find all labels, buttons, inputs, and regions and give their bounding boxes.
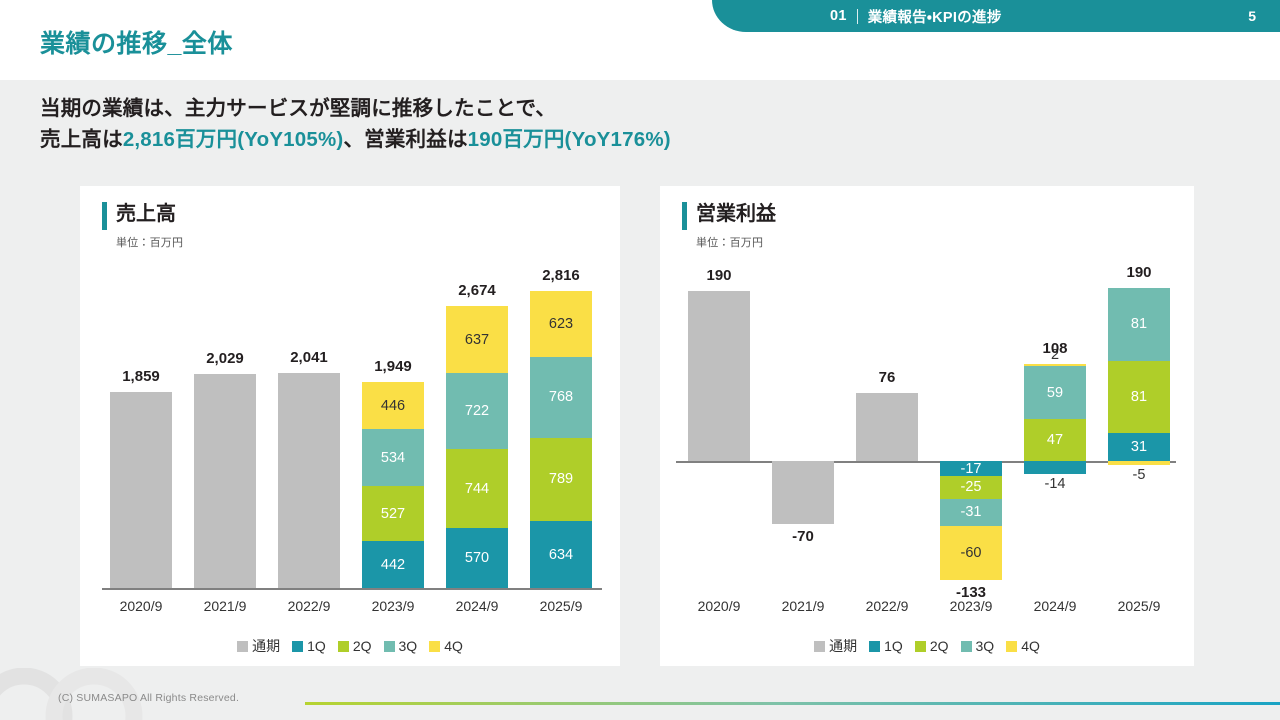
header-divider bbox=[857, 9, 858, 24]
legend-swatch bbox=[961, 641, 972, 652]
bar-total-label: 108 bbox=[1006, 340, 1104, 357]
x-axis-label: 2020/9 bbox=[94, 598, 188, 614]
legend-swatch bbox=[814, 641, 825, 652]
x-axis-label: 2024/9 bbox=[430, 598, 524, 614]
legend-item-3Q[interactable]: 3Q bbox=[961, 638, 995, 654]
chart-legend: 通期1Q2Q3Q4Q bbox=[660, 636, 1194, 656]
bar-2022-9[interactable] bbox=[856, 186, 918, 666]
bar-segment-4Q: 446 bbox=[362, 382, 424, 429]
x-axis-label: 2025/9 bbox=[1092, 598, 1186, 614]
lead-line2-prefix: 売上高は bbox=[40, 128, 123, 151]
bar-segment-2Q: -25 bbox=[940, 476, 1002, 498]
section-header-text: 01 業績報告・KPIの進捗 bbox=[830, 6, 1002, 27]
bar-segment-通期 bbox=[688, 291, 750, 461]
bar-2021-9[interactable] bbox=[194, 186, 256, 666]
x-axis-label: 2023/9 bbox=[346, 598, 440, 614]
bar-segment-2Q: 527 bbox=[362, 486, 424, 542]
bar-2020-9[interactable] bbox=[688, 186, 750, 666]
bar-total-label: 190 bbox=[1090, 264, 1188, 281]
legend-label: 3Q bbox=[976, 638, 995, 654]
bar-segment-4Q: 623 bbox=[530, 291, 592, 357]
legend-item-3Q[interactable]: 3Q bbox=[384, 638, 418, 654]
page-title: 業績の推移_全体 bbox=[40, 24, 233, 60]
footer-gradient-rule bbox=[305, 702, 1280, 705]
bar-total-label: -70 bbox=[754, 528, 852, 545]
bar-2024-9[interactable]: -1447592 bbox=[1024, 186, 1086, 666]
lead-text: 当期の業績は、主力サービスが堅調に推移したことで、 売上高は2,816百万円(Y… bbox=[40, 93, 671, 155]
legend-item-4Q[interactable]: 4Q bbox=[1006, 638, 1040, 654]
legend-item-2Q[interactable]: 2Q bbox=[915, 638, 949, 654]
x-axis-label: 2021/9 bbox=[756, 598, 850, 614]
legend-label: 通期 bbox=[829, 636, 857, 656]
lead-line-2: 売上高は2,816百万円(YoY105%)、営業利益は190百万円(YoY176… bbox=[40, 124, 671, 155]
legend-item-通期[interactable]: 通期 bbox=[237, 636, 280, 656]
sales-chart-card: 売上高 単位：百万円 1,8592020/92,0292021/92,04120… bbox=[80, 186, 620, 666]
sales-plot-area: 1,8592020/92,0292021/92,0412022/94425275… bbox=[80, 186, 620, 666]
legend-item-4Q[interactable]: 4Q bbox=[429, 638, 463, 654]
bar-total-label: 2,816 bbox=[512, 267, 610, 284]
bar-segment-3Q: 768 bbox=[530, 357, 592, 438]
legend-label: 1Q bbox=[884, 638, 903, 654]
legend-label: 通期 bbox=[252, 636, 280, 656]
legend-swatch bbox=[338, 641, 349, 652]
legend-label: 1Q bbox=[307, 638, 326, 654]
legend-item-1Q[interactable]: 1Q bbox=[292, 638, 326, 654]
legend-swatch bbox=[237, 641, 248, 652]
bar-total-label: 1,859 bbox=[92, 368, 190, 385]
bar-segment-4Q: -60 bbox=[940, 526, 1002, 580]
bar-segment-1Q: 634 bbox=[530, 521, 592, 588]
section-header-banner: 01 業績報告・KPIの進捗 5 bbox=[712, 0, 1280, 32]
legend-label: 2Q bbox=[930, 638, 949, 654]
bar-segment-通期 bbox=[772, 461, 834, 524]
bar-total-label: 190 bbox=[670, 267, 768, 284]
x-axis-label: 2024/9 bbox=[1008, 598, 1102, 614]
profit-chart-card: 営業利益 単位：百万円 1902020/9-702021/9762022/9-1… bbox=[660, 186, 1194, 666]
bar-segment-通期 bbox=[194, 374, 256, 588]
bar-segment-1Q bbox=[1024, 461, 1086, 474]
bar-segment-通期 bbox=[110, 392, 172, 588]
bar-segment-1Q: 442 bbox=[362, 541, 424, 588]
legend-swatch bbox=[292, 641, 303, 652]
profit-plot-area: 1902020/9-702021/9762022/9-17-25-31-60-1… bbox=[660, 186, 1194, 666]
bar-segment-1Q: 570 bbox=[446, 528, 508, 588]
legend-swatch bbox=[384, 641, 395, 652]
x-axis-label: 2025/9 bbox=[514, 598, 608, 614]
bar-2020-9[interactable] bbox=[110, 186, 172, 666]
bar-2023-9[interactable]: 442527534446 bbox=[362, 186, 424, 666]
x-axis-label: 2020/9 bbox=[672, 598, 766, 614]
bar-segment-4Q: 637 bbox=[446, 306, 508, 373]
bar-segment-1Q: 31 bbox=[1108, 433, 1170, 461]
bar-segment-2Q: 744 bbox=[446, 449, 508, 527]
bar-total-label: 76 bbox=[838, 369, 936, 386]
bar-2021-9[interactable] bbox=[772, 186, 834, 666]
bar-segment-1Q: -17 bbox=[940, 461, 1002, 476]
bar-segment-3Q: 81 bbox=[1108, 288, 1170, 360]
slide-root: 01 業績報告・KPIの進捗 5 業績の推移_全体 当期の業績は、主力サービスが… bbox=[0, 0, 1280, 720]
footer-copyright: (C) SUMASAPO All Rights Reserved. bbox=[58, 692, 239, 704]
bar-segment-label-4Q: -5 bbox=[1108, 466, 1170, 484]
section-number: 01 bbox=[830, 8, 847, 24]
bar-2025-9[interactable]: 318181-5 bbox=[1108, 186, 1170, 666]
bar-segment-通期 bbox=[856, 393, 918, 461]
legend-swatch bbox=[1006, 641, 1017, 652]
lead-highlight-sales: 2,816百万円(YoY105%) bbox=[123, 128, 344, 151]
bar-2022-9[interactable] bbox=[278, 186, 340, 666]
x-axis-label: 2022/9 bbox=[262, 598, 356, 614]
chart-legend: 通期1Q2Q3Q4Q bbox=[80, 636, 620, 656]
lead-line-1: 当期の業績は、主力サービスが堅調に推移したことで、 bbox=[40, 93, 671, 124]
bar-2025-9[interactable]: 634789768623 bbox=[530, 186, 592, 666]
bar-segment-2Q: 47 bbox=[1024, 419, 1086, 461]
bar-segment-通期 bbox=[278, 373, 340, 588]
bar-2024-9[interactable]: 570744722637 bbox=[446, 186, 508, 666]
legend-item-2Q[interactable]: 2Q bbox=[338, 638, 372, 654]
legend-label: 4Q bbox=[444, 638, 463, 654]
bar-segment-2Q: 81 bbox=[1108, 361, 1170, 433]
x-axis-label: 2023/9 bbox=[924, 598, 1018, 614]
legend-swatch bbox=[429, 641, 440, 652]
bar-segment-3Q: -31 bbox=[940, 499, 1002, 527]
legend-item-通期[interactable]: 通期 bbox=[814, 636, 857, 656]
bar-segment-3Q: 722 bbox=[446, 373, 508, 449]
bar-segment-4Q bbox=[1108, 461, 1170, 465]
zero-axis-line bbox=[102, 588, 602, 590]
x-axis-label: 2021/9 bbox=[178, 598, 272, 614]
zero-axis-line bbox=[676, 461, 1176, 463]
x-axis-label: 2022/9 bbox=[840, 598, 934, 614]
legend-swatch bbox=[915, 641, 926, 652]
legend-label: 3Q bbox=[399, 638, 418, 654]
bar-segment-2Q: 789 bbox=[530, 438, 592, 521]
bar-segment-label-1Q: -14 bbox=[1024, 475, 1086, 493]
bar-segment-3Q: 534 bbox=[362, 429, 424, 485]
page-number: 5 bbox=[1248, 0, 1256, 32]
bar-total-label: 1,949 bbox=[344, 358, 442, 375]
bar-total-label: 2,674 bbox=[428, 282, 526, 299]
legend-label: 2Q bbox=[353, 638, 372, 654]
lead-line2-middle: 、営業利益は bbox=[343, 128, 467, 151]
legend-swatch bbox=[869, 641, 880, 652]
bar-segment-4Q bbox=[1024, 364, 1086, 366]
bar-segment-3Q: 59 bbox=[1024, 366, 1086, 419]
legend-label: 4Q bbox=[1021, 638, 1040, 654]
legend-item-1Q[interactable]: 1Q bbox=[869, 638, 903, 654]
section-title: 業績報告・KPIの進捗 bbox=[868, 6, 1002, 27]
lead-highlight-profit: 190百万円(YoY176%) bbox=[468, 128, 671, 151]
